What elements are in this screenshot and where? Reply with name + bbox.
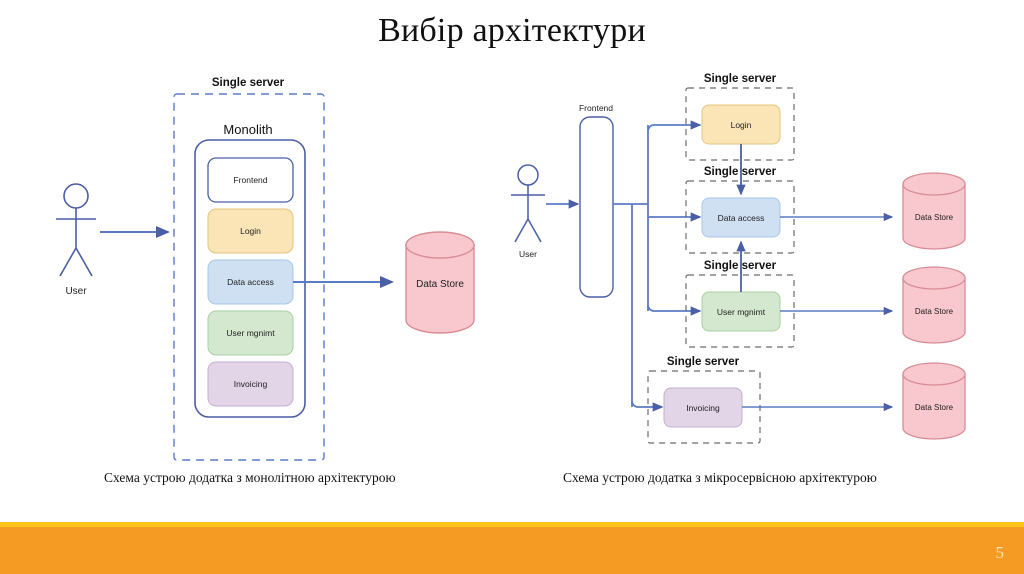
right-service-label: User mgnimt [717, 307, 766, 317]
left-diagram: User Single server Monolith Frontend Log… [56, 77, 474, 460]
left-monolith-label: Monolith [223, 122, 272, 137]
right-actor-user: User [511, 165, 545, 259]
right-service-login[interactable]: Login [702, 105, 780, 144]
architecture-diagrams: User Single server Monolith Frontend Log… [0, 0, 1024, 574]
right-service-data-access[interactable]: Data access [702, 198, 780, 237]
right-actor-label: User [519, 249, 537, 259]
right-single-server-label: Single server [704, 73, 777, 85]
right-single-server-label: Single server [667, 356, 740, 368]
right-datastore-3[interactable]: Data Store [903, 363, 965, 439]
right-service-label: Data access [718, 213, 765, 223]
right-arrow-to-user-mgnimt [648, 305, 700, 311]
left-component-label: Data access [227, 277, 274, 287]
right-service-label: Login [731, 120, 752, 130]
left-actor-label: User [65, 286, 87, 297]
right-datastore-1[interactable]: Data Store [903, 173, 965, 249]
left-component-user-mgnimt[interactable]: User mgnimt [208, 311, 293, 355]
left-component-login[interactable]: Login [208, 209, 293, 253]
left-diagram-caption: Схема устрою додатка з монолітною архіте… [104, 470, 396, 486]
right-datastore-2[interactable]: Data Store [903, 267, 965, 343]
right-datastore-label: Data Store [915, 213, 954, 222]
left-component-label: Login [240, 226, 261, 236]
left-component-label: Frontend [233, 175, 267, 185]
right-frontend-box[interactable] [580, 117, 613, 297]
left-component-label: Invoicing [234, 379, 268, 389]
right-diagram-caption: Схема устрою додатка з мікросервісною ар… [563, 470, 877, 486]
footer-orange-band [0, 527, 1024, 574]
left-component-data-access[interactable]: Data access [208, 260, 293, 304]
left-component-label: User mgnimt [226, 328, 275, 338]
page-number: 5 [996, 543, 1005, 563]
left-datastore-label: Data Store [416, 279, 464, 290]
right-diagram: User Frontend Single server [511, 73, 965, 443]
right-service-user-mgnimt[interactable]: User mgnimt [702, 292, 780, 331]
right-service-label: Invoicing [686, 403, 720, 413]
left-actor-user: User [56, 184, 96, 297]
left-datastore[interactable]: Data Store [406, 232, 474, 333]
left-single-server-label: Single server [212, 77, 285, 89]
left-component-frontend[interactable]: Frontend [208, 158, 293, 202]
right-service-invoicing[interactable]: Invoicing [664, 388, 742, 427]
slide-root: Вибір архітектури User Si [0, 0, 1024, 574]
right-arrow-to-invoicing [632, 401, 662, 407]
right-datastore-label: Data Store [915, 403, 954, 412]
right-arrow-to-login [648, 125, 700, 131]
right-frontend-label: Frontend [579, 103, 613, 113]
right-datastore-label: Data Store [915, 307, 954, 316]
left-component-invoicing[interactable]: Invoicing [208, 362, 293, 406]
